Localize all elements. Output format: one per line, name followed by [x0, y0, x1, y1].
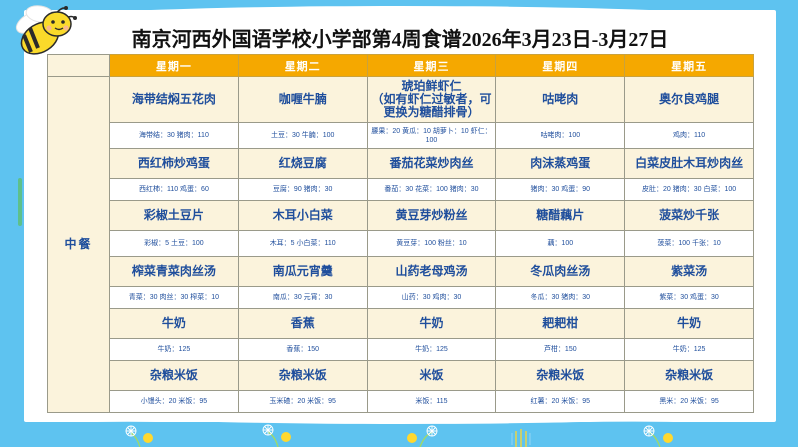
ingredient-cell-2: 香蕉：150 — [238, 339, 367, 361]
dish-cell-5: 牛奶 — [625, 309, 754, 339]
dish-cell-2: 咖喱牛腩 — [238, 77, 367, 123]
dish-cell-3: 琥珀鲜虾仁（如有虾仁过敏者，可更换为糖醋排骨） — [367, 77, 496, 123]
ingredient-cell-1: 小馒头：20 米饭：95 — [110, 391, 239, 413]
ingredient-cell-2: 豆腐：90 猪肉：30 — [238, 179, 367, 201]
ingredient-cell-5: 黑米：20 米饭：95 — [625, 391, 754, 413]
dish-row: 牛奶香蕉牛奶耙耙柑牛奶 — [48, 309, 754, 339]
dish-cell-4: 冬瓜肉丝汤 — [496, 257, 625, 287]
ingredient-cell-4: 咕咾肉：100 — [496, 123, 625, 149]
menu-table-body: 中餐海带结焖五花肉咖喱牛腩琥珀鲜虾仁（如有虾仁过敏者，可更换为糖醋排骨）咕咾肉奥… — [48, 77, 754, 413]
day-header-4: 星期四 — [496, 55, 625, 77]
ingredient-cell-2: 木耳：5 小白菜：110 — [238, 231, 367, 257]
dish-row: 彩椒土豆片木耳小白菜黄豆芽炒粉丝糖醋藕片菠菜炒千张 — [48, 201, 754, 231]
meal-label-lunch: 中餐 — [48, 77, 110, 413]
ingredient-cell-2: 土豆：30 牛腩：100 — [238, 123, 367, 149]
ingredient-row: 青菜：30 肉丝：30 榨菜：10南瓜：30 元宵：30山药：30 鸡肉：30冬… — [48, 287, 754, 309]
dish-cell-1: 榨菜青菜肉丝汤 — [110, 257, 239, 287]
menu-table-head: 星期一星期二星期三星期四星期五 — [48, 55, 754, 77]
day-header-1: 星期一 — [110, 55, 239, 77]
ingredient-cell-4: 冬瓜：30 猪肉：30 — [496, 287, 625, 309]
dish-row: 杂粮米饭杂粮米饭米饭杂粮米饭杂粮米饭 — [48, 361, 754, 391]
dish-cell-3: 米饭 — [367, 361, 496, 391]
ingredient-cell-1: 海带结：30 猪肉：110 — [110, 123, 239, 149]
scroll-marker[interactable] — [18, 178, 22, 226]
dish-cell-4: 肉沫蒸鸡蛋 — [496, 149, 625, 179]
menu-table-container: 星期一星期二星期三星期四星期五 中餐海带结焖五花肉咖喱牛腩琥珀鲜虾仁（如有虾仁过… — [47, 54, 753, 412]
dish-cell-3: 番茄花菜炒肉丝 — [367, 149, 496, 179]
ingredient-cell-3: 牛奶：125 — [367, 339, 496, 361]
dish-row: 榨菜青菜肉丝汤南瓜元宵羹山药老母鸡汤冬瓜肉丝汤紫菜汤 — [48, 257, 754, 287]
dish-cell-5: 奥尔良鸡腿 — [625, 77, 754, 123]
page-title-container: 南京河西外国语学校小学部第4周食谱2026年3月23日-3月27日 — [24, 20, 776, 54]
ingredient-cell-1: 彩椒：5 土豆：100 — [110, 231, 239, 257]
ingredient-cell-5: 菠菜：100 千张：10 — [625, 231, 754, 257]
day-header-row: 星期一星期二星期三星期四星期五 — [48, 55, 754, 77]
table-corner-cell — [48, 55, 110, 77]
dish-cell-1: 西红柿炒鸡蛋 — [110, 149, 239, 179]
ingredient-cell-5: 紫菜：30 鸡蛋：30 — [625, 287, 754, 309]
dish-cell-4: 耙耙柑 — [496, 309, 625, 339]
ingredient-cell-5: 牛奶：125 — [625, 339, 754, 361]
ingredient-cell-3: 番茄：30 花菜：100 猪肉：30 — [367, 179, 496, 201]
ingredient-cell-5: 鸡肉：110 — [625, 123, 754, 149]
dish-cell-2: 红烧豆腐 — [238, 149, 367, 179]
dish-cell-4: 杂粮米饭 — [496, 361, 625, 391]
dish-cell-3: 山药老母鸡汤 — [367, 257, 496, 287]
ingredient-row: 彩椒：5 土豆：100木耳：5 小白菜：110黄豆芽：100 粉丝：10藕：10… — [48, 231, 754, 257]
ingredient-cell-4: 猪肉：30 鸡蛋：90 — [496, 179, 625, 201]
day-header-5: 星期五 — [625, 55, 754, 77]
ingredient-cell-1: 西红柿：110 鸡蛋：60 — [110, 179, 239, 201]
dish-cell-2: 南瓜元宵羹 — [238, 257, 367, 287]
dish-row: 中餐海带结焖五花肉咖喱牛腩琥珀鲜虾仁（如有虾仁过敏者，可更换为糖醋排骨）咕咾肉奥… — [48, 77, 754, 123]
ingredient-cell-3: 腰果：20 黄瓜：10 胡萝卜：10 虾仁：100 — [367, 123, 496, 149]
dish-cell-5: 白菜皮肚木耳炒肉丝 — [625, 149, 754, 179]
ingredient-cell-1: 牛奶：125 — [110, 339, 239, 361]
day-header-3: 星期三 — [367, 55, 496, 77]
ingredient-row: 海带结：30 猪肉：110土豆：30 牛腩：100腰果：20 黄瓜：10 胡萝卜… — [48, 123, 754, 149]
day-header-2: 星期二 — [238, 55, 367, 77]
dish-cell-2: 香蕉 — [238, 309, 367, 339]
dish-cell-5: 杂粮米饭 — [625, 361, 754, 391]
dish-cell-4: 咕咾肉 — [496, 77, 625, 123]
ingredient-row: 西红柿：110 鸡蛋：60豆腐：90 猪肉：30番茄：30 花菜：100 猪肉：… — [48, 179, 754, 201]
ingredient-cell-1: 青菜：30 肉丝：30 榨菜：10 — [110, 287, 239, 309]
dish-cell-1: 牛奶 — [110, 309, 239, 339]
dish-row: 西红柿炒鸡蛋红烧豆腐番茄花菜炒肉丝肉沫蒸鸡蛋白菜皮肚木耳炒肉丝 — [48, 149, 754, 179]
dish-cell-4: 糖醋藕片 — [496, 201, 625, 231]
ingredient-cell-5: 皮肚：20 猪肉：30 白菜：100 — [625, 179, 754, 201]
ingredient-cell-4: 芦柑：150 — [496, 339, 625, 361]
ingredient-row: 牛奶：125香蕉：150牛奶：125芦柑：150牛奶：125 — [48, 339, 754, 361]
ingredient-cell-4: 红薯：20 米饭：95 — [496, 391, 625, 413]
dandelion-flowers-icon — [0, 418, 798, 447]
ingredient-cell-2: 玉米碴：20 米饭：95 — [238, 391, 367, 413]
ingredient-cell-3: 山药：30 鸡肉：30 — [367, 287, 496, 309]
menu-table: 星期一星期二星期三星期四星期五 中餐海带结焖五花肉咖喱牛腩琥珀鲜虾仁（如有虾仁过… — [47, 54, 754, 413]
dish-cell-1: 杂粮米饭 — [110, 361, 239, 391]
ingredient-row: 小馒头：20 米饭：95玉米碴：20 米饭：95米饭：115红薯：20 米饭：9… — [48, 391, 754, 413]
dish-cell-1: 海带结焖五花肉 — [110, 77, 239, 123]
ingredient-cell-4: 藕：100 — [496, 231, 625, 257]
ingredient-cell-2: 南瓜：30 元宵：30 — [238, 287, 367, 309]
page-title: 南京河西外国语学校小学部第4周食谱2026年3月23日-3月27日 — [132, 23, 669, 52]
dish-cell-3: 牛奶 — [367, 309, 496, 339]
dish-cell-1: 彩椒土豆片 — [110, 201, 239, 231]
dish-cell-2: 杂粮米饭 — [238, 361, 367, 391]
ingredient-cell-3: 米饭：115 — [367, 391, 496, 413]
dish-cell-5: 紫菜汤 — [625, 257, 754, 287]
dish-cell-5: 菠菜炒千张 — [625, 201, 754, 231]
dish-cell-3: 黄豆芽炒粉丝 — [367, 201, 496, 231]
dish-cell-2: 木耳小白菜 — [238, 201, 367, 231]
ingredient-cell-3: 黄豆芽：100 粉丝：10 — [367, 231, 496, 257]
